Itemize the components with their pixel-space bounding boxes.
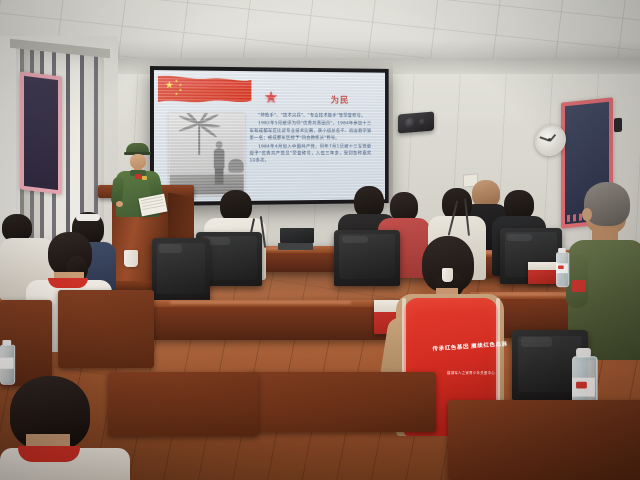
veteran-speaker [110,143,166,217]
wooden-chair-left-1[interactable] [58,290,154,368]
wall-board-left-surface [24,76,58,190]
slide-paragraph-2: 1982年5月被评为师"优秀共青团员"。1984年参加十三军和成都军区比武专业技… [249,121,371,143]
slide-paragraph-1: "神枪手"、"技术尖兵"、"专业技术能手"等荣誉称号。 [249,112,371,120]
slide-paragraph-3: 1984年4月加入中国共产党，同年7月1日被十三军党委授予"优秀共产党员"荣誉称… [249,143,371,165]
red-pioneer-scarf [48,278,88,288]
gift-box-2[interactable] [528,262,558,284]
slide-surface: ★ ★ ★ ★ ★ ★ 为民 [154,70,385,202]
chinese-national-flag: ★ ★ ★ ★ ★ [158,74,251,110]
child-3 [0,376,130,480]
red-pioneer-scarf [18,446,80,462]
wall-board-left [20,71,62,194]
speaker-tweeter-icon [419,118,426,126]
gold-badge-icon [142,176,147,180]
bottle-label-mark [576,382,587,389]
paper-cup-2[interactable] [442,268,453,282]
speaker-left-hand [116,201,123,207]
laptop[interactable] [280,228,314,250]
bottle-label-mark [558,266,564,270]
laptop-keyboard[interactable] [278,243,313,250]
speaker-cone-icon [405,117,416,129]
hair-band [76,214,100,221]
paper-cup-1[interactable] [124,250,138,267]
photo-soldier [213,141,226,185]
slide-text-block: "神枪手"、"技术尖兵"、"专业技术能手"等荣誉称号。 1982年5月被评为师"… [249,112,371,166]
lecture-hall-photo: ★ ★ ★ ★ ★ ★ 为民 [0,0,640,480]
wall-mounted-speaker [398,111,434,133]
red-shoulder-badge [572,280,586,292]
gift-box-lid [528,262,558,270]
wooden-bench-front-right[interactable] [448,400,640,480]
wooden-chair-left-2[interactable] [108,372,258,436]
photo-shrub [228,159,243,173]
red-medal-ribbon [135,174,141,179]
red-five-pointed-star: ★ [264,89,279,106]
svg-text:★: ★ [179,87,183,92]
slide-calligraphy: 为民 [331,93,350,106]
camera-body [614,118,622,133]
conference-chair-4[interactable] [152,238,210,302]
speech-notes [139,194,168,217]
svg-text:★: ★ [175,91,179,96]
bottle-label [0,358,14,369]
laptop-screen [280,228,314,243]
slide-vintage-photo [169,112,245,196]
veteran-grey-hair [584,182,630,226]
wooden-bench-front[interactable] [246,372,436,432]
veteran-ear [582,208,592,221]
svg-text:★: ★ [165,80,174,91]
